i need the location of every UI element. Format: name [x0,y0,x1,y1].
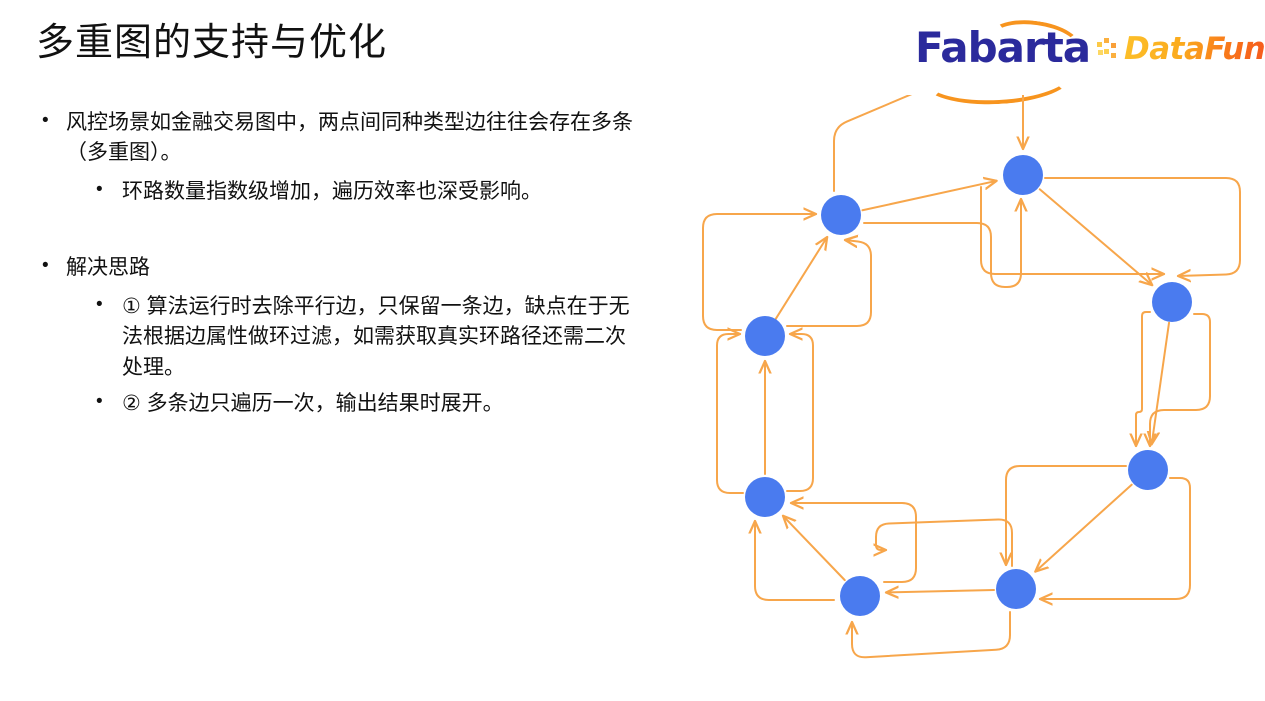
bullet-item: 解决思路 [36,253,636,283]
fabarta-wordmark: Fabarta [915,27,1090,69]
graph-edge [834,95,1023,191]
graph-node[interactable] [996,569,1036,609]
datafun-wordmark: DataFun. [1124,34,1265,65]
graph-edge [755,521,834,600]
graph-edge [1136,312,1150,446]
graph-node[interactable] [745,477,785,517]
graph-edge [1045,178,1240,276]
graph-node[interactable] [1128,450,1168,490]
graph-edge [783,516,845,580]
bullet-item: ② 多条边只遍历一次，输出结果时展开。 [88,389,636,419]
graph-edge [703,214,816,330]
slide-body: 风控场景如金融交易图中，两点间同种类型边往往会存在多条（多重图）。 环路数量指数… [36,108,636,420]
edge-layer [703,95,1240,657]
graph-edge [787,240,871,326]
datafun-logo: DataFun. [1097,29,1247,69]
fabarta-logo: Fabarta [915,20,1079,78]
graph-edge [787,334,813,491]
datafun-pixel-dots-icon [1097,36,1123,62]
graph-edge [876,519,1012,566]
bullet-item: ① 算法运行时去除平行边，只保留一条边，缺点在于无法根据边属性做环过滤，如需获取… [88,292,636,383]
graph-edge [776,237,828,319]
graph-edge [852,612,1010,657]
graph-node[interactable] [821,195,861,235]
graph-edge [1040,189,1152,285]
graph-edge [886,590,994,593]
graph-node[interactable] [1003,155,1043,195]
graph-edge [862,181,996,210]
graph-edge [981,187,1164,274]
graph-node[interactable] [840,576,880,616]
graph-edge [1006,466,1126,565]
graph-edge [1035,485,1131,572]
graph-node[interactable] [745,316,785,356]
graph-node[interactable] [1152,282,1192,322]
graph-edge [1150,314,1210,446]
graph-edge [1040,478,1190,599]
graph-edge [1152,323,1169,444]
graph-canvas [690,95,1260,675]
multigraph-cycle-diagram [690,95,1260,675]
bullet-item: 风控场景如金融交易图中，两点间同种类型边往往会存在多条（多重图）。 [36,108,636,169]
logo-bar: Fabarta DataFun. [915,18,1247,80]
page-title: 多重图的支持与优化 [36,20,387,68]
graph-edge [717,334,743,493]
bullet-item: 环路数量指数级增加，遍历效率也深受影响。 [88,177,636,207]
